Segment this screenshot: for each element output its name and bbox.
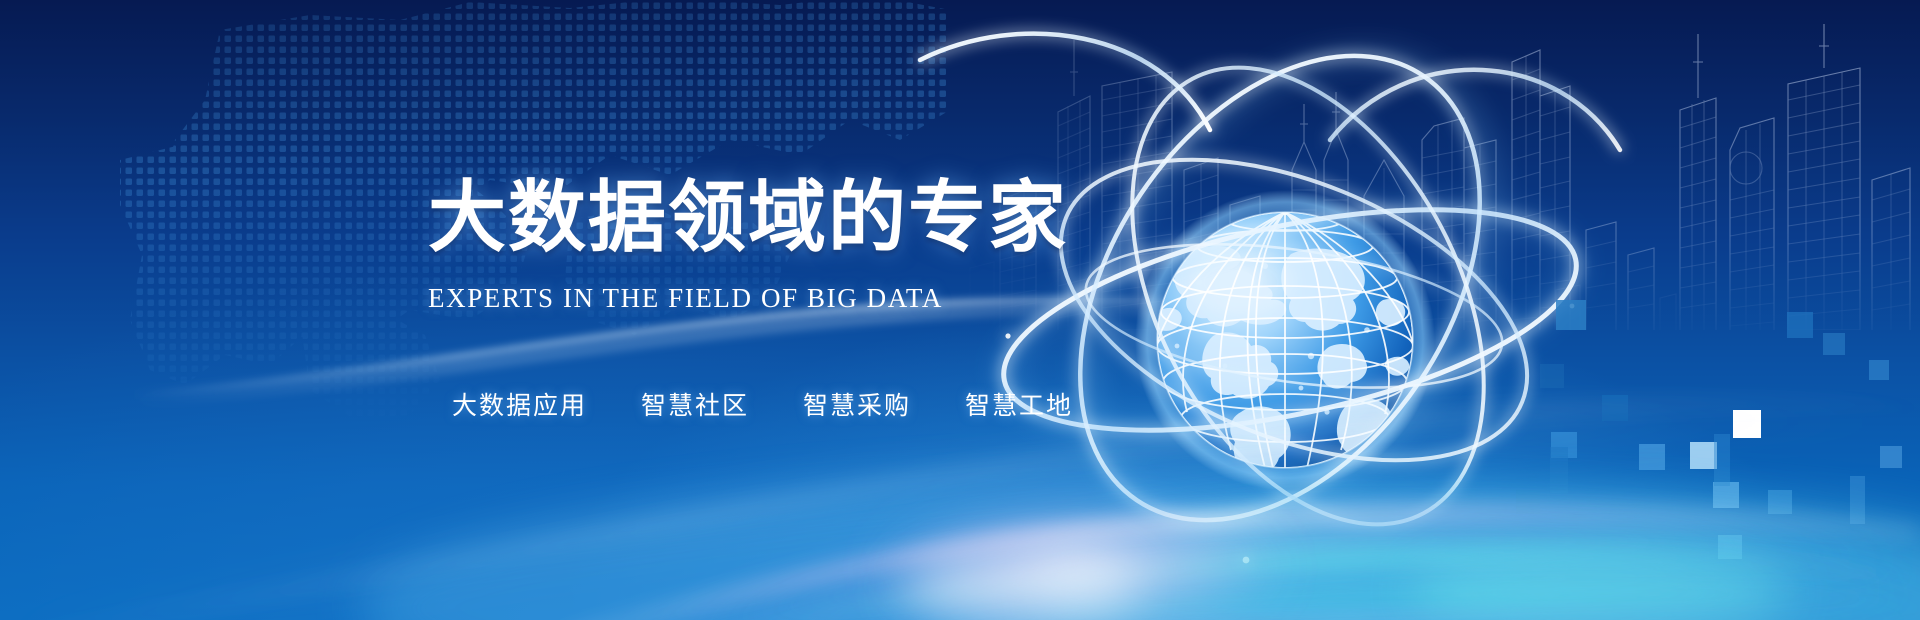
keyword-nav: 大数据应用 智慧社区 智慧采购 智慧工地 [452, 386, 1073, 422]
page-title: 大数据领域的专家 [0, 178, 1500, 256]
keyword-item-smart-community[interactable]: 智慧社区 [641, 386, 749, 422]
page-subtitle: EXPERTS IN THE FIELD OF BIG DATA [428, 283, 943, 314]
keyword-item-big-data-application[interactable]: 大数据应用 [452, 386, 587, 422]
hero-banner: 大数据领域的专家 EXPERTS IN THE FIELD OF BIG DAT… [0, 0, 1920, 620]
keyword-item-smart-construction-site[interactable]: 智慧工地 [965, 386, 1073, 422]
keyword-item-smart-procurement[interactable]: 智慧采购 [803, 386, 911, 422]
